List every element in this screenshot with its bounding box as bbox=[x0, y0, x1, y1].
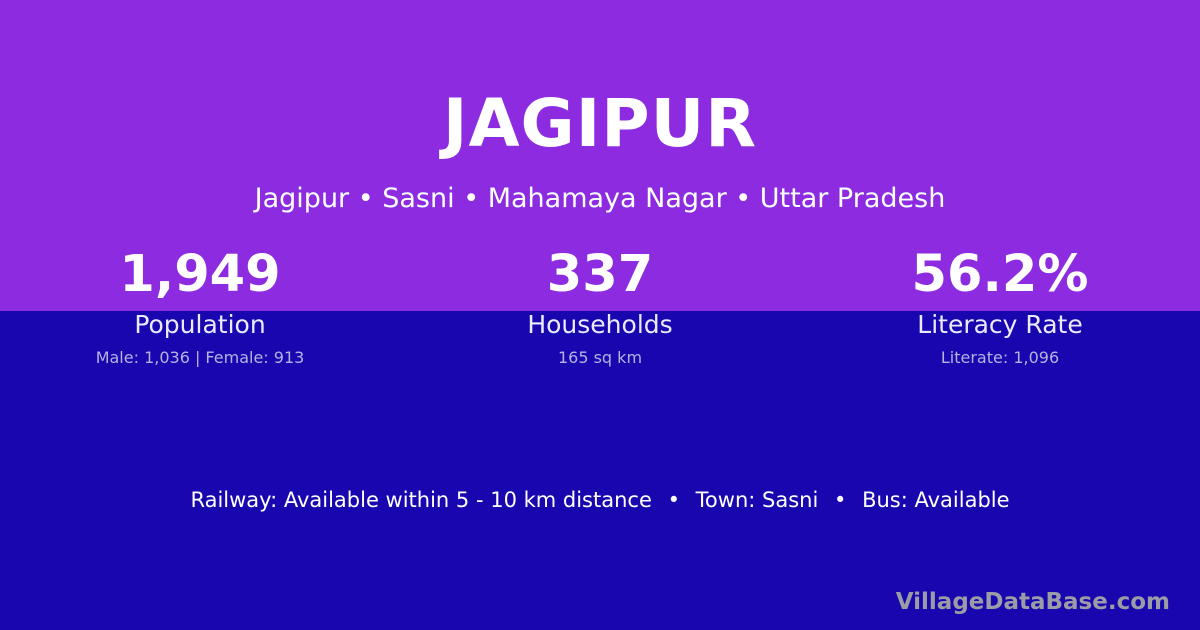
stat-households: 337 Households 165 sq km bbox=[400, 243, 800, 368]
facility-separator-icon: • bbox=[825, 486, 855, 514]
village-summary-card: JAGIPUR Jagipur • Sasni • Mahamaya Nagar… bbox=[0, 0, 1200, 630]
stat-population-sub: Male: 1,036 | Female: 913 bbox=[0, 348, 400, 368]
stat-population: 1,949 Population Male: 1,036 | Female: 9… bbox=[0, 243, 400, 368]
breadcrumb: Jagipur • Sasni • Mahamaya Nagar • Uttar… bbox=[0, 182, 1200, 216]
stat-literacy-rate-value: 56.2% bbox=[800, 243, 1200, 307]
facilities-line: Railway: Available within 5 - 10 km dist… bbox=[0, 486, 1200, 514]
page-title: JAGIPUR bbox=[0, 88, 1200, 160]
stat-literacy-rate-sub: Literate: 1,096 bbox=[800, 348, 1200, 368]
facility-separator-icon: • bbox=[659, 486, 689, 514]
stat-households-label: Households bbox=[400, 310, 800, 340]
stat-households-sub: 165 sq km bbox=[400, 348, 800, 368]
card-content: JAGIPUR Jagipur • Sasni • Mahamaya Nagar… bbox=[0, 0, 1200, 630]
stats-row: 1,949 Population Male: 1,036 | Female: 9… bbox=[0, 243, 1200, 368]
facility-town: Town: Sasni bbox=[696, 488, 819, 512]
stat-households-value: 337 bbox=[400, 243, 800, 307]
stat-literacy-rate: 56.2% Literacy Rate Literate: 1,096 bbox=[800, 243, 1200, 368]
site-watermark: VillageDataBase.com bbox=[896, 588, 1170, 616]
facility-bus: Bus: Available bbox=[862, 488, 1009, 512]
stat-population-value: 1,949 bbox=[0, 243, 400, 307]
stat-literacy-rate-label: Literacy Rate bbox=[800, 310, 1200, 340]
facility-railway: Railway: Available within 5 - 10 km dist… bbox=[190, 488, 651, 512]
stat-population-label: Population bbox=[0, 310, 400, 340]
